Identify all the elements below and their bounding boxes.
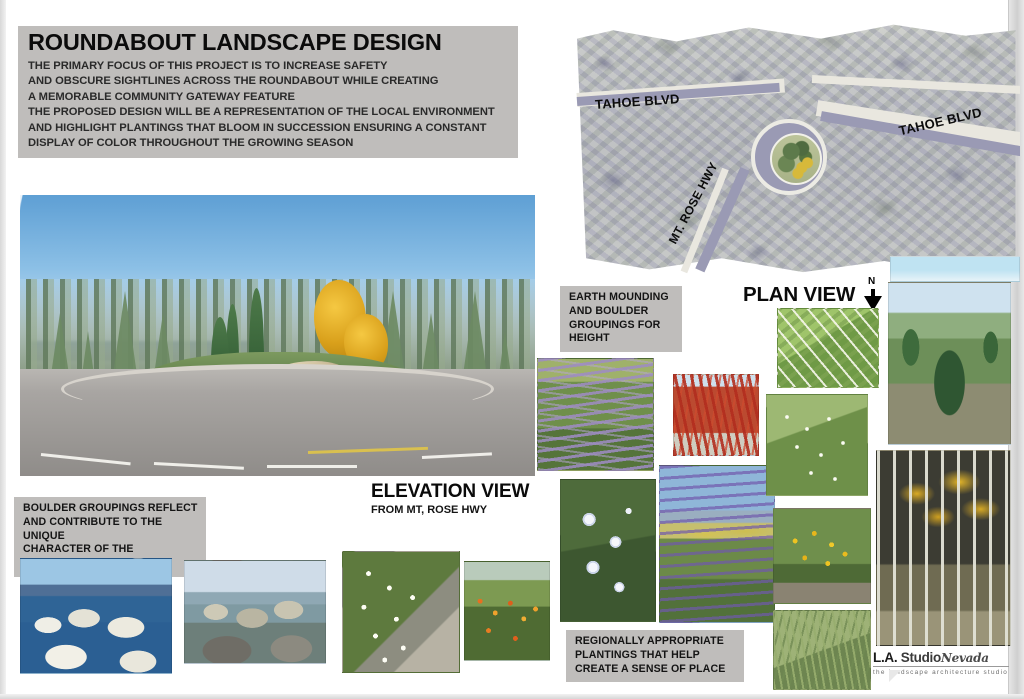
callout-line: EARTH MOUNDING [569,291,674,305]
logo-rule [873,666,1009,667]
elevation-view-subtitle: FROM MT, ROSE HWY [371,504,529,516]
page-edge-left [0,0,6,699]
logo-script: Nevada [941,651,989,665]
photo-white-viburnum-shrub [766,394,868,496]
logo-prefix: L.A. [873,650,897,665]
callout-line: REGIONALLY APPROPRIATE [575,635,736,649]
photo-lake-meadow-lupine [659,465,775,623]
page-title: ROUNDABOUT LANDSCAPE DESIGN [28,30,508,55]
plan-view-title: PLAN VIEW [743,283,855,307]
pine-tree [51,313,69,375]
callout-line: HEIGHT [569,332,674,346]
description-line-5: AND HIGHLIGHT PLANTINGS THAT BLOOM IN SU… [28,121,508,137]
elevation-rendering-photo [20,195,535,476]
callout-line: PLANTINGS THAT HELP [575,649,736,663]
project-description: THE PRIMARY FOCUS OF THIS PROJECT IS TO … [28,59,508,152]
pine-tree [463,291,487,375]
callout-line: GROUPINGS FOR [569,319,674,333]
photo-red-twig-dogwood [673,374,759,456]
north-arrow-icon: N [862,278,884,312]
photo-lake-tahoe-boulders-2 [184,560,326,664]
roundabout-curb [61,364,494,415]
title-block: ROUNDABOUT LANDSCAPE DESIGN THE PRIMARY … [18,26,518,158]
logo-corner-tag [889,670,901,682]
page-edge-bottom [0,694,1024,699]
roundabout-center-island [770,133,822,185]
callout-line: CREATE A SENSE OF PLACE [575,663,736,677]
callout-line: AND BOULDER [569,305,674,319]
aerial-site-plan-photo: TAHOE BLVD TAHOE BLVD MT. ROSE HWY [568,8,1020,286]
logo-wordmark: L.A. StudioNevada [873,650,1013,665]
studio-logo: L.A. StudioNevada the landscape architec… [873,650,1013,682]
photo-white-daisies-along-path [342,551,460,673]
pine-tree [499,331,511,375]
description-line-2: AND OBSCURE SIGHTLINES ACROSS THE ROUNDA… [28,74,508,90]
photo-yellow-rudbeckia [773,508,871,604]
description-line-4: THE PROPOSED DESIGN WILL BE A REPRESENTA… [28,105,508,121]
photo-orange-blanketflower [464,561,550,661]
pine-tree [422,313,440,375]
pine-tree [113,291,137,375]
pine-tree [82,331,94,375]
north-arrow-label: N [868,276,875,287]
elevation-view-title: ELEVATION VIEW [371,481,529,503]
description-line-6: DISPLAY OF COLOR THROUGHOUT THE GROWING … [28,136,508,152]
photo-ornamental-grass [773,610,871,690]
logo-name: Studio [901,650,941,665]
photo-white-columbine [560,479,656,622]
callout-line: AND CONTRIBUTE TO THE UNIQUE [23,516,198,544]
callout-earth-mounding: EARTH MOUNDING AND BOULDER GROUPINGS FOR… [560,286,682,352]
callout-line: BOULDER GROUPINGS REFLECT [23,502,198,516]
presentation-board: ROUNDABOUT LANDSCAPE DESIGN THE PRIMARY … [0,0,1024,699]
description-line-3: A MEMORABLE COMMUNITY GATEWAY FEATURE [28,90,508,106]
photo-sky-strip [890,256,1020,282]
photo-white-flowering-shrub-leaves [777,308,879,388]
description-line-1: THE PRIMARY FOCUS OF THIS PROJECT IS TO … [28,59,508,75]
callout-regional-plantings: REGIONALLY APPROPRIATE PLANTINGS THAT HE… [566,630,744,682]
lane-marking [267,465,357,468]
photo-weeping-spruce-conifer [888,282,1011,445]
photo-purple-russian-sage [537,358,654,471]
photo-golden-aspen-grove [876,450,1011,646]
photo-lake-tahoe-boulders-1 [20,558,172,674]
elevation-view-caption: ELEVATION VIEW FROM MT, ROSE HWY [371,481,529,516]
rendering-content [20,195,535,476]
